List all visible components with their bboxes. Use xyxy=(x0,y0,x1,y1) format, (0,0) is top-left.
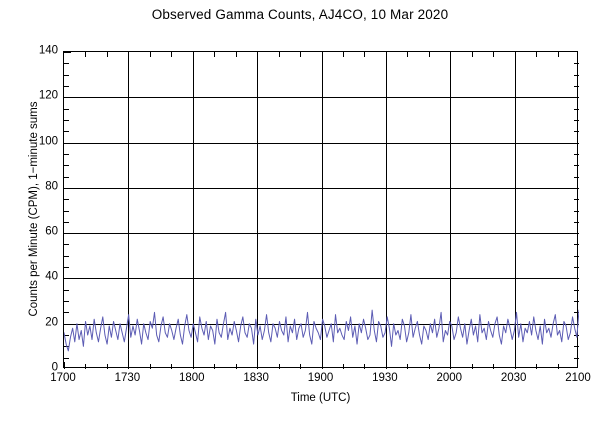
y-tick-label: 20 xyxy=(0,317,58,329)
y-tick-label: 140 xyxy=(0,45,58,57)
y-tick-label: 120 xyxy=(0,91,58,103)
x-tick-label: 2000 xyxy=(436,372,462,385)
x-tick-label: 2030 xyxy=(501,372,527,385)
x-axis-label: Time (UTC) xyxy=(63,392,578,404)
x-tick-label: 1930 xyxy=(372,372,398,385)
chart-title: Observed Gamma Counts, AJ4CO, 10 Mar 202… xyxy=(0,7,600,22)
x-axis-tick-labels: 170017301800183019001930200020302100 xyxy=(63,372,578,388)
chart-figure: Observed Gamma Counts, AJ4CO, 10 Mar 202… xyxy=(0,0,600,428)
y-tick-label: 100 xyxy=(0,136,58,148)
x-tick-label: 2100 xyxy=(565,372,591,385)
y-tick-label: 80 xyxy=(0,181,58,193)
y-axis-tick-labels: 020406080100120140 xyxy=(0,51,58,368)
gamma-counts-series xyxy=(64,52,579,369)
plot-area xyxy=(63,51,578,368)
y-tick-label: 60 xyxy=(0,226,58,238)
x-tick-label: 1900 xyxy=(308,372,334,385)
y-tick-label: 40 xyxy=(0,272,58,284)
x-tick-label: 1830 xyxy=(243,372,269,385)
x-tick-label: 1730 xyxy=(115,372,141,385)
x-tick-label: 1700 xyxy=(50,372,76,385)
x-tick-label: 1800 xyxy=(179,372,205,385)
